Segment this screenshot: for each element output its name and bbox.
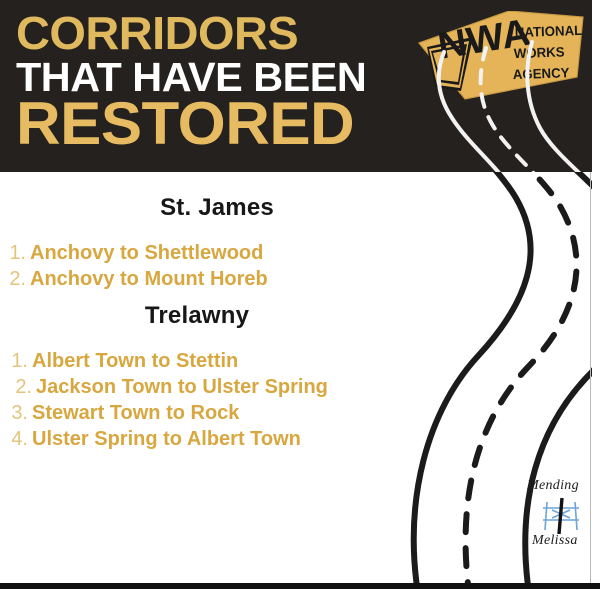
corridor-list-trelawny: 1. Albert Town to Stettin 2. Jackson Tow… — [0, 348, 440, 452]
parish-heading-trelawny: Trelawny — [0, 302, 440, 330]
bottom-black-bar — [0, 583, 600, 589]
svg-text:NATIONAL: NATIONAL — [515, 23, 583, 41]
list-item-number: 3. — [0, 400, 32, 426]
list-item: 2. Anchovy to Mount Horeb — [0, 266, 440, 292]
corridor-list-st-james: 1. Anchovy to Shettlewood 2. Anchovy to … — [0, 240, 440, 292]
list-item-number: 2. — [4, 374, 36, 400]
list-item-number: 1. — [0, 240, 30, 266]
header-band: CORRIDORS THAT HAVE BEEN RESTORED NWA NA… — [0, 0, 592, 172]
list-item-label: Jackson Town to Ulster Spring — [36, 374, 328, 400]
title-line-1: CORRIDORS — [16, 12, 424, 55]
section-trelawny: Trelawny 1. Albert Town to Stettin 2. Ja… — [0, 302, 440, 452]
list-item: 2. Jackson Town to Ulster Spring — [0, 374, 440, 400]
list-item-number: 4. — [0, 426, 32, 452]
right-vertical-rule — [590, 172, 591, 583]
list-item: 1. Albert Town to Stettin — [0, 348, 440, 374]
svg-text:WORKS: WORKS — [514, 44, 565, 61]
list-item: 1. Anchovy to Shettlewood — [0, 240, 440, 266]
section-st-james: St. James 1. Anchovy to Shettlewood 2. A… — [0, 194, 440, 292]
mending-needle-icon — [538, 496, 584, 536]
parish-heading-st-james: St. James — [0, 194, 440, 222]
poster-title: CORRIDORS THAT HAVE BEEN RESTORED — [16, 8, 416, 152]
list-item-label: Anchovy to Mount Horeb — [30, 266, 268, 292]
list-item-number: 1. — [0, 348, 32, 374]
watermark: Mending Melissa — [524, 478, 600, 550]
list-item-label: Stewart Town to Rock — [32, 400, 239, 426]
corridor-lists: St. James 1. Anchovy to Shettlewood 2. A… — [0, 172, 592, 583]
list-item: 3. Stewart Town to Rock — [0, 400, 440, 426]
list-item-number: 2. — [0, 266, 30, 292]
svg-text:AGENCY: AGENCY — [513, 65, 570, 82]
list-item-label: Anchovy to Shettlewood — [30, 240, 263, 266]
watermark-bottom-text: Melissa — [532, 533, 578, 549]
title-line-3: RESTORED — [16, 96, 428, 152]
list-item-label: Albert Town to Stettin — [32, 348, 238, 374]
list-item: 4. Ulster Spring to Albert Town — [0, 426, 440, 452]
right-white-strip — [592, 0, 600, 583]
poster-canvas: CORRIDORS THAT HAVE BEEN RESTORED NWA NA… — [0, 0, 600, 589]
nwa-logo: NWA NATIONAL WORKS AGENCY — [417, 11, 585, 105]
list-item-label: Ulster Spring to Albert Town — [32, 426, 301, 452]
watermark-top-text: Mending — [527, 478, 579, 494]
